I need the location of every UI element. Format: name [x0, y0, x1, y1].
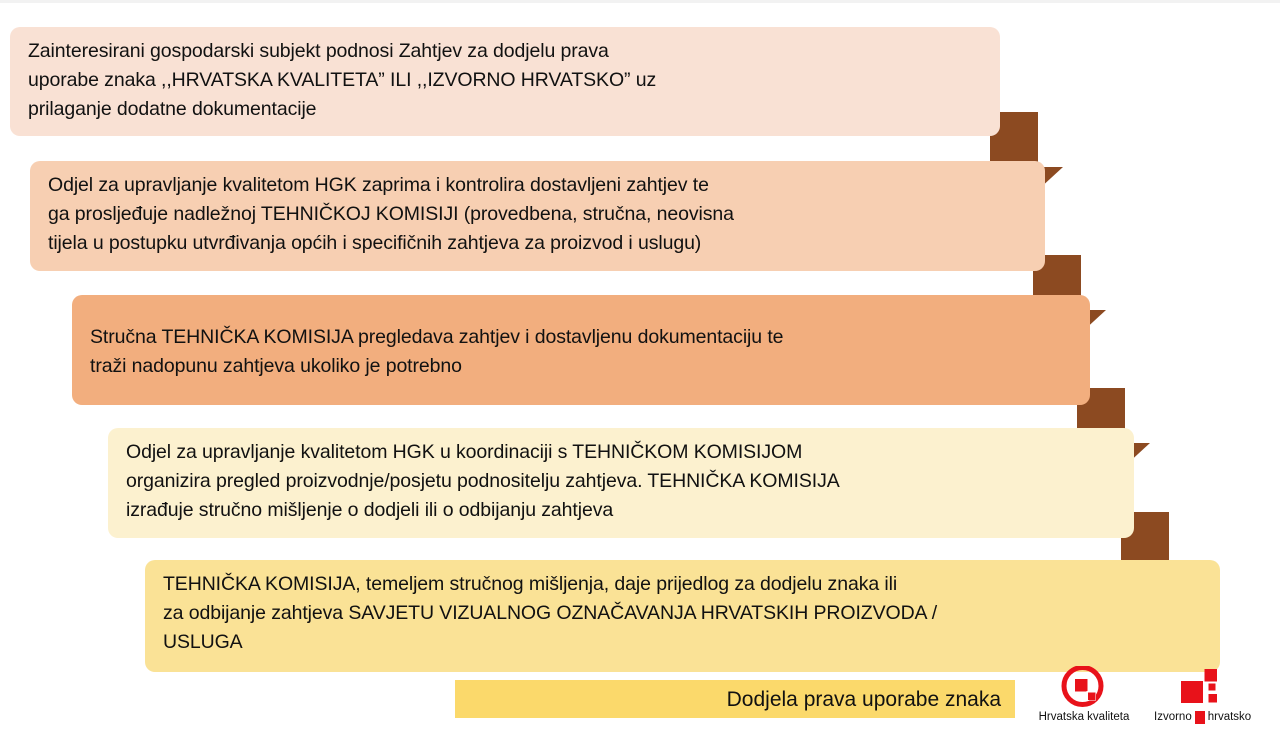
flow-step-box-1[interactable]: Zainteresirani gospodarski subjekt podno… [10, 27, 1000, 136]
final-outcome-label: Dodjela prava uporabe znaka [727, 689, 1001, 710]
izvorno-hrvatsko-caption-left: Izvorno [1154, 711, 1192, 724]
izvorno-hrvatsko-logo-icon [1155, 667, 1251, 711]
top-divider [0, 0, 1280, 3]
izvorno-hrvatsko-caption: Izvorno hrvatsko [1154, 711, 1251, 724]
flow-step-4-line-1: Odjel za upravljanje kvalitetom HGK u ko… [126, 438, 1118, 467]
flow-step-4-line-2: organizira pregled proizvodnje/posjetu p… [126, 467, 1118, 496]
hrvatska-kvaliteta-logo: Hrvatska kvaliteta [1036, 666, 1132, 724]
flow-step-box-2[interactable]: Odjel za upravljanje kvalitetom HGK zapr… [30, 161, 1045, 271]
flow-step-box-3[interactable]: Stručna TEHNIČKA KOMISIJA pregledava zah… [72, 295, 1090, 405]
izvorno-hrvatsko-caption-mark-icon [1193, 711, 1207, 724]
logo-group: Hrvatska kvaliteta Izvorno hrvatsko [1036, 666, 1251, 724]
flowchart-canvas: Zainteresirani gospodarski subjekt podno… [0, 0, 1280, 744]
hrvatska-kvaliteta-q-logo-icon [1036, 666, 1132, 710]
flow-step-2-line-1: Odjel za upravljanje kvalitetom HGK zapr… [48, 171, 1029, 200]
flow-step-1-line-2: uporabe znaka ,,HRVATSKA KVALITETA” ILI … [28, 66, 984, 95]
hrvatska-kvaliteta-caption: Hrvatska kvaliteta [1039, 711, 1130, 724]
flow-step-5-line-3: USLUGA [163, 628, 1204, 657]
flow-step-1-line-3: prilaganje dodatne dokumentacije [28, 95, 984, 124]
izvorno-hrvatsko-caption-right: hrvatsko [1208, 711, 1251, 724]
flow-step-2-line-2: ga prosljeđuje nadležnoj TEHNIČKOJ KOMIS… [48, 200, 1029, 229]
final-outcome-bar[interactable]: Dodjela prava uporabe znaka [455, 680, 1015, 718]
flow-step-1-line-1: Zainteresirani gospodarski subjekt podno… [28, 37, 984, 66]
flow-step-box-4[interactable]: Odjel za upravljanje kvalitetom HGK u ko… [108, 428, 1134, 538]
flow-step-5-line-1: TEHNIČKA KOMISIJA, temeljem stručnog miš… [163, 570, 1204, 599]
flow-step-5-line-2: za odbijanje zahtjeva SAVJETU VIZUALNOG … [163, 599, 1204, 628]
flow-step-box-5[interactable]: TEHNIČKA KOMISIJA, temeljem stručnog miš… [145, 560, 1220, 672]
flow-step-3-line-1: Stručna TEHNIČKA KOMISIJA pregledava zah… [90, 323, 1074, 352]
flow-step-3-line-2: traži nadopunu zahtjeva ukoliko je potre… [90, 352, 1074, 381]
izvorno-hrvatsko-logo: Izvorno hrvatsko [1154, 667, 1251, 724]
flow-step-2-line-3: tijela u postupku utvrđivanja općih i sp… [48, 229, 1029, 258]
flow-step-4-line-3: izrađuje stručno mišljenje o dodjeli ili… [126, 496, 1118, 525]
